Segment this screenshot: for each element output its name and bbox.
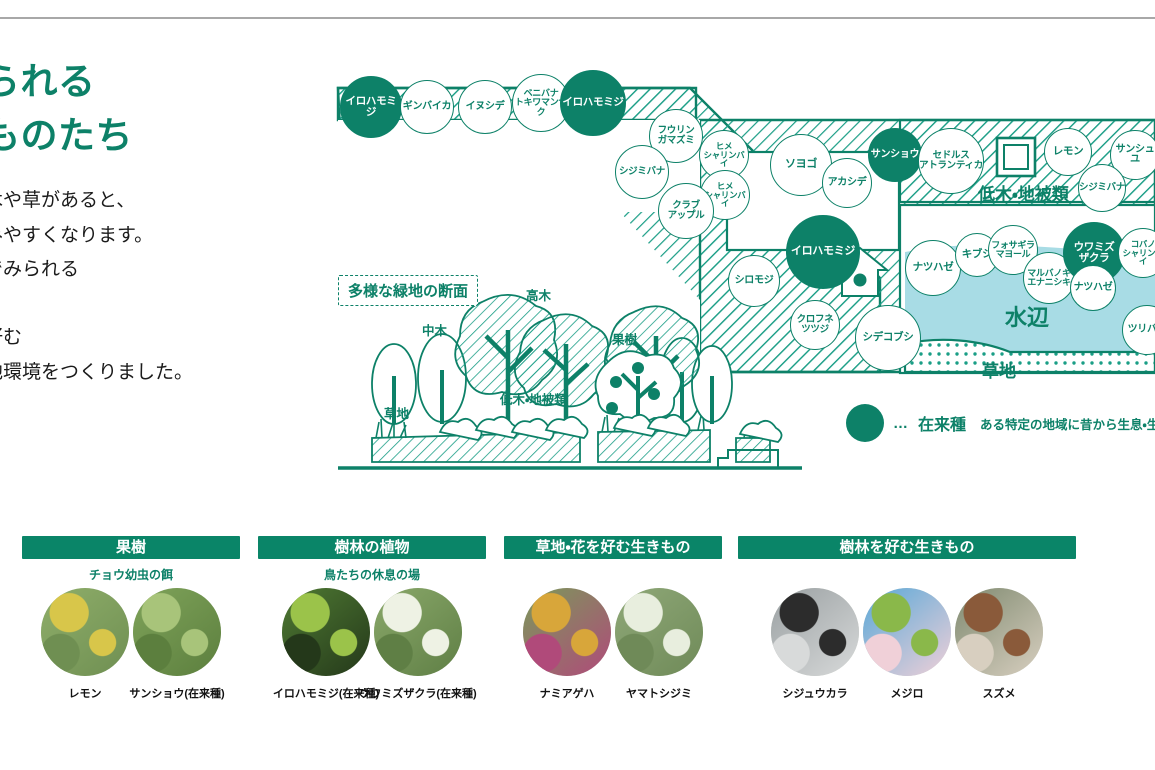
species-caption: ナミアゲハ xyxy=(540,685,595,701)
tree-circle: イロハモミジ xyxy=(560,70,626,136)
thumbnail-item[interactable]: スズメ xyxy=(953,588,1045,701)
panel-subtitle: チョウ幼虫の餌 xyxy=(22,566,240,580)
tree-label: ツリバナ xyxy=(1128,325,1155,336)
tree-label: サンショウ xyxy=(871,150,920,161)
tree-label: イロハモミジ xyxy=(341,96,401,118)
species-photo xyxy=(41,588,129,676)
tree-label: マルバノキ エナニシキ xyxy=(1027,269,1071,288)
tree-label: フォサギラ マヨール xyxy=(991,241,1035,260)
species-photo xyxy=(133,588,221,676)
tree-label: サンシュユ xyxy=(1111,145,1155,166)
tree-circle: イヌシデ xyxy=(458,80,512,134)
thumbnail-row: イロハモミジ(在来種)ウワミズザクラ(在来種) xyxy=(258,588,486,701)
thumbnail-item[interactable]: メジロ xyxy=(861,588,953,701)
panel-title: 草地・花を好む生きもの xyxy=(504,536,722,559)
tree-circle: コバノ シャリンバイ xyxy=(1118,228,1155,278)
legend-term: 在来種 xyxy=(918,411,966,435)
legend-ellipsis: … xyxy=(893,415,909,432)
thumbnail-item[interactable]: ナミアゲハ xyxy=(521,588,613,701)
legend: … 在来種 ある特定の地域に昔から生息・生育している動植 xyxy=(846,404,1155,442)
panel-subtitle xyxy=(504,566,722,580)
tree-label: レモン xyxy=(1053,146,1084,157)
tree-label: アカシデ xyxy=(828,178,867,189)
tree-label: セドルス アトランティカ xyxy=(919,151,983,171)
tree-circle: シデコブシ xyxy=(855,305,921,371)
tree-circle: クラブ アップル xyxy=(658,183,714,239)
thumbnail-item[interactable]: イロハモミジ(在来種) xyxy=(280,588,372,701)
panel-subtitle: 鳥たちの休息の場 xyxy=(258,566,486,580)
tree-circle: レモン xyxy=(1044,128,1092,176)
xsec-label-shrub: 低木・地被類 xyxy=(499,392,567,407)
tree-circle: シジミバナ xyxy=(1078,164,1126,212)
thumbnail-row: ナミアゲハヤマトシジミ xyxy=(504,588,722,701)
xsec-label-mid-tree: 中木 xyxy=(422,323,448,338)
photo-panel: 樹林の植物鳥たちの休息の場イロハモミジ(在来種)ウワミズザクラ(在来種) xyxy=(258,536,486,701)
species-photo xyxy=(374,588,462,676)
xsec-label-fruit-tree: 果樹 xyxy=(611,332,638,347)
thumbnail-item[interactable]: レモン xyxy=(39,588,131,701)
tree-circle: ナツハゼ xyxy=(1070,265,1116,311)
cross-section-title: 多様な緑地の断面 xyxy=(338,275,478,306)
tree-label: クラブ アップル xyxy=(668,201,705,221)
species-photo xyxy=(863,588,951,676)
panel-subtitle xyxy=(738,566,1076,580)
legend-description: ある特定の地域に昔から生息・生育している動植 xyxy=(980,414,1155,433)
tree-label: イロハモミジ xyxy=(791,246,855,258)
xsec-label-tall-tree: 高木 xyxy=(526,288,552,303)
panel-title: 果樹 xyxy=(22,536,240,559)
thumbnail-item[interactable]: ウワミズザクラ(在来種) xyxy=(372,588,464,701)
xsec-label-grass: 草地 xyxy=(384,406,410,421)
legend-native-swatch xyxy=(846,404,884,442)
tree-label: コバノ シャリンバイ xyxy=(1119,240,1155,267)
tree-circle: セドルス アトランティカ xyxy=(918,128,984,194)
photo-panel: 樹林を好む生きものシジュウカラメジロスズメ xyxy=(738,536,1076,701)
species-caption: メジロ xyxy=(891,685,924,701)
photo-panel: 果樹チョウ幼虫の餌レモンサンショウ(在来種) xyxy=(22,536,240,701)
tree-circle: サンショウ xyxy=(868,128,922,182)
tree-label: イヌシデ xyxy=(466,102,505,113)
tree-circle: シジミバナ xyxy=(615,145,669,199)
tree-circle: ギンバイカ xyxy=(400,80,454,134)
panel-title: 樹林の植物 xyxy=(258,536,486,559)
tree-label: フウリン ガマズミ xyxy=(658,126,695,146)
tree-label: ナツハゼ xyxy=(1074,283,1113,294)
species-caption: スズメ xyxy=(983,685,1016,701)
species-photo xyxy=(282,588,370,676)
infographic-page: ぎみられる 生きものたち 高さの樹木や草があると、 ものがすみやすくなります。 … xyxy=(0,0,1155,770)
panel-title: 樹林を好む生きもの xyxy=(738,536,1076,559)
species-photo xyxy=(771,588,859,676)
thumbnail-row: シジュウカラメジロスズメ xyxy=(738,588,1076,701)
tree-label: シジミバナ xyxy=(619,167,665,177)
tree-label: ヒメ シャリンバイ xyxy=(700,142,748,169)
species-caption: レモン xyxy=(69,685,102,701)
tree-label: ソヨゴ xyxy=(785,159,817,171)
tree-circle: ナツハゼ xyxy=(905,240,961,296)
thumbnail-item[interactable]: ヤマトシジミ xyxy=(613,588,705,701)
tree-circle: イロハモミジ xyxy=(340,76,402,138)
species-photo xyxy=(615,588,703,676)
cross-section-diagram: 多様な緑地の断面 xyxy=(330,272,810,502)
species-caption: シジュウカラ xyxy=(782,685,847,701)
species-photo xyxy=(955,588,1043,676)
species-caption: サンショウ(在来種) xyxy=(129,685,224,701)
tree-label: ウワミズ ザクラ xyxy=(1074,242,1115,264)
tree-label: シデコブシ xyxy=(863,332,914,343)
species-photo xyxy=(523,588,611,676)
species-caption: ウワミズザクラ(在来種) xyxy=(359,685,476,701)
species-caption: ヤマトシジミ xyxy=(626,685,692,701)
tree-label: ギンバイカ xyxy=(403,102,452,113)
thumbnail-item[interactable]: シジュウカラ xyxy=(769,588,861,701)
tree-label: シジミバナ xyxy=(1079,183,1125,193)
thumbnail-row: レモンサンショウ(在来種) xyxy=(22,588,240,701)
tree-circle: アカシデ xyxy=(822,158,872,208)
photo-panel: 草地・花を好む生きものナミアゲハヤマトシジミ xyxy=(504,536,722,701)
fruit-tree xyxy=(596,351,681,424)
tree-label: ナツハゼ xyxy=(913,262,954,273)
tree-label: イロハモミジ xyxy=(562,97,623,108)
tree-circle: ツリバナ xyxy=(1122,305,1155,355)
cross-section-svg: 草地 中木 高木 低木・地被類 果樹 xyxy=(330,272,810,502)
thumbnail-item[interactable]: サンショウ(在来種) xyxy=(131,588,223,701)
photo-panels: 果樹チョウ幼虫の餌レモンサンショウ(在来種)樹林の植物鳥たちの休息の場イロハモミ… xyxy=(0,536,1155,726)
